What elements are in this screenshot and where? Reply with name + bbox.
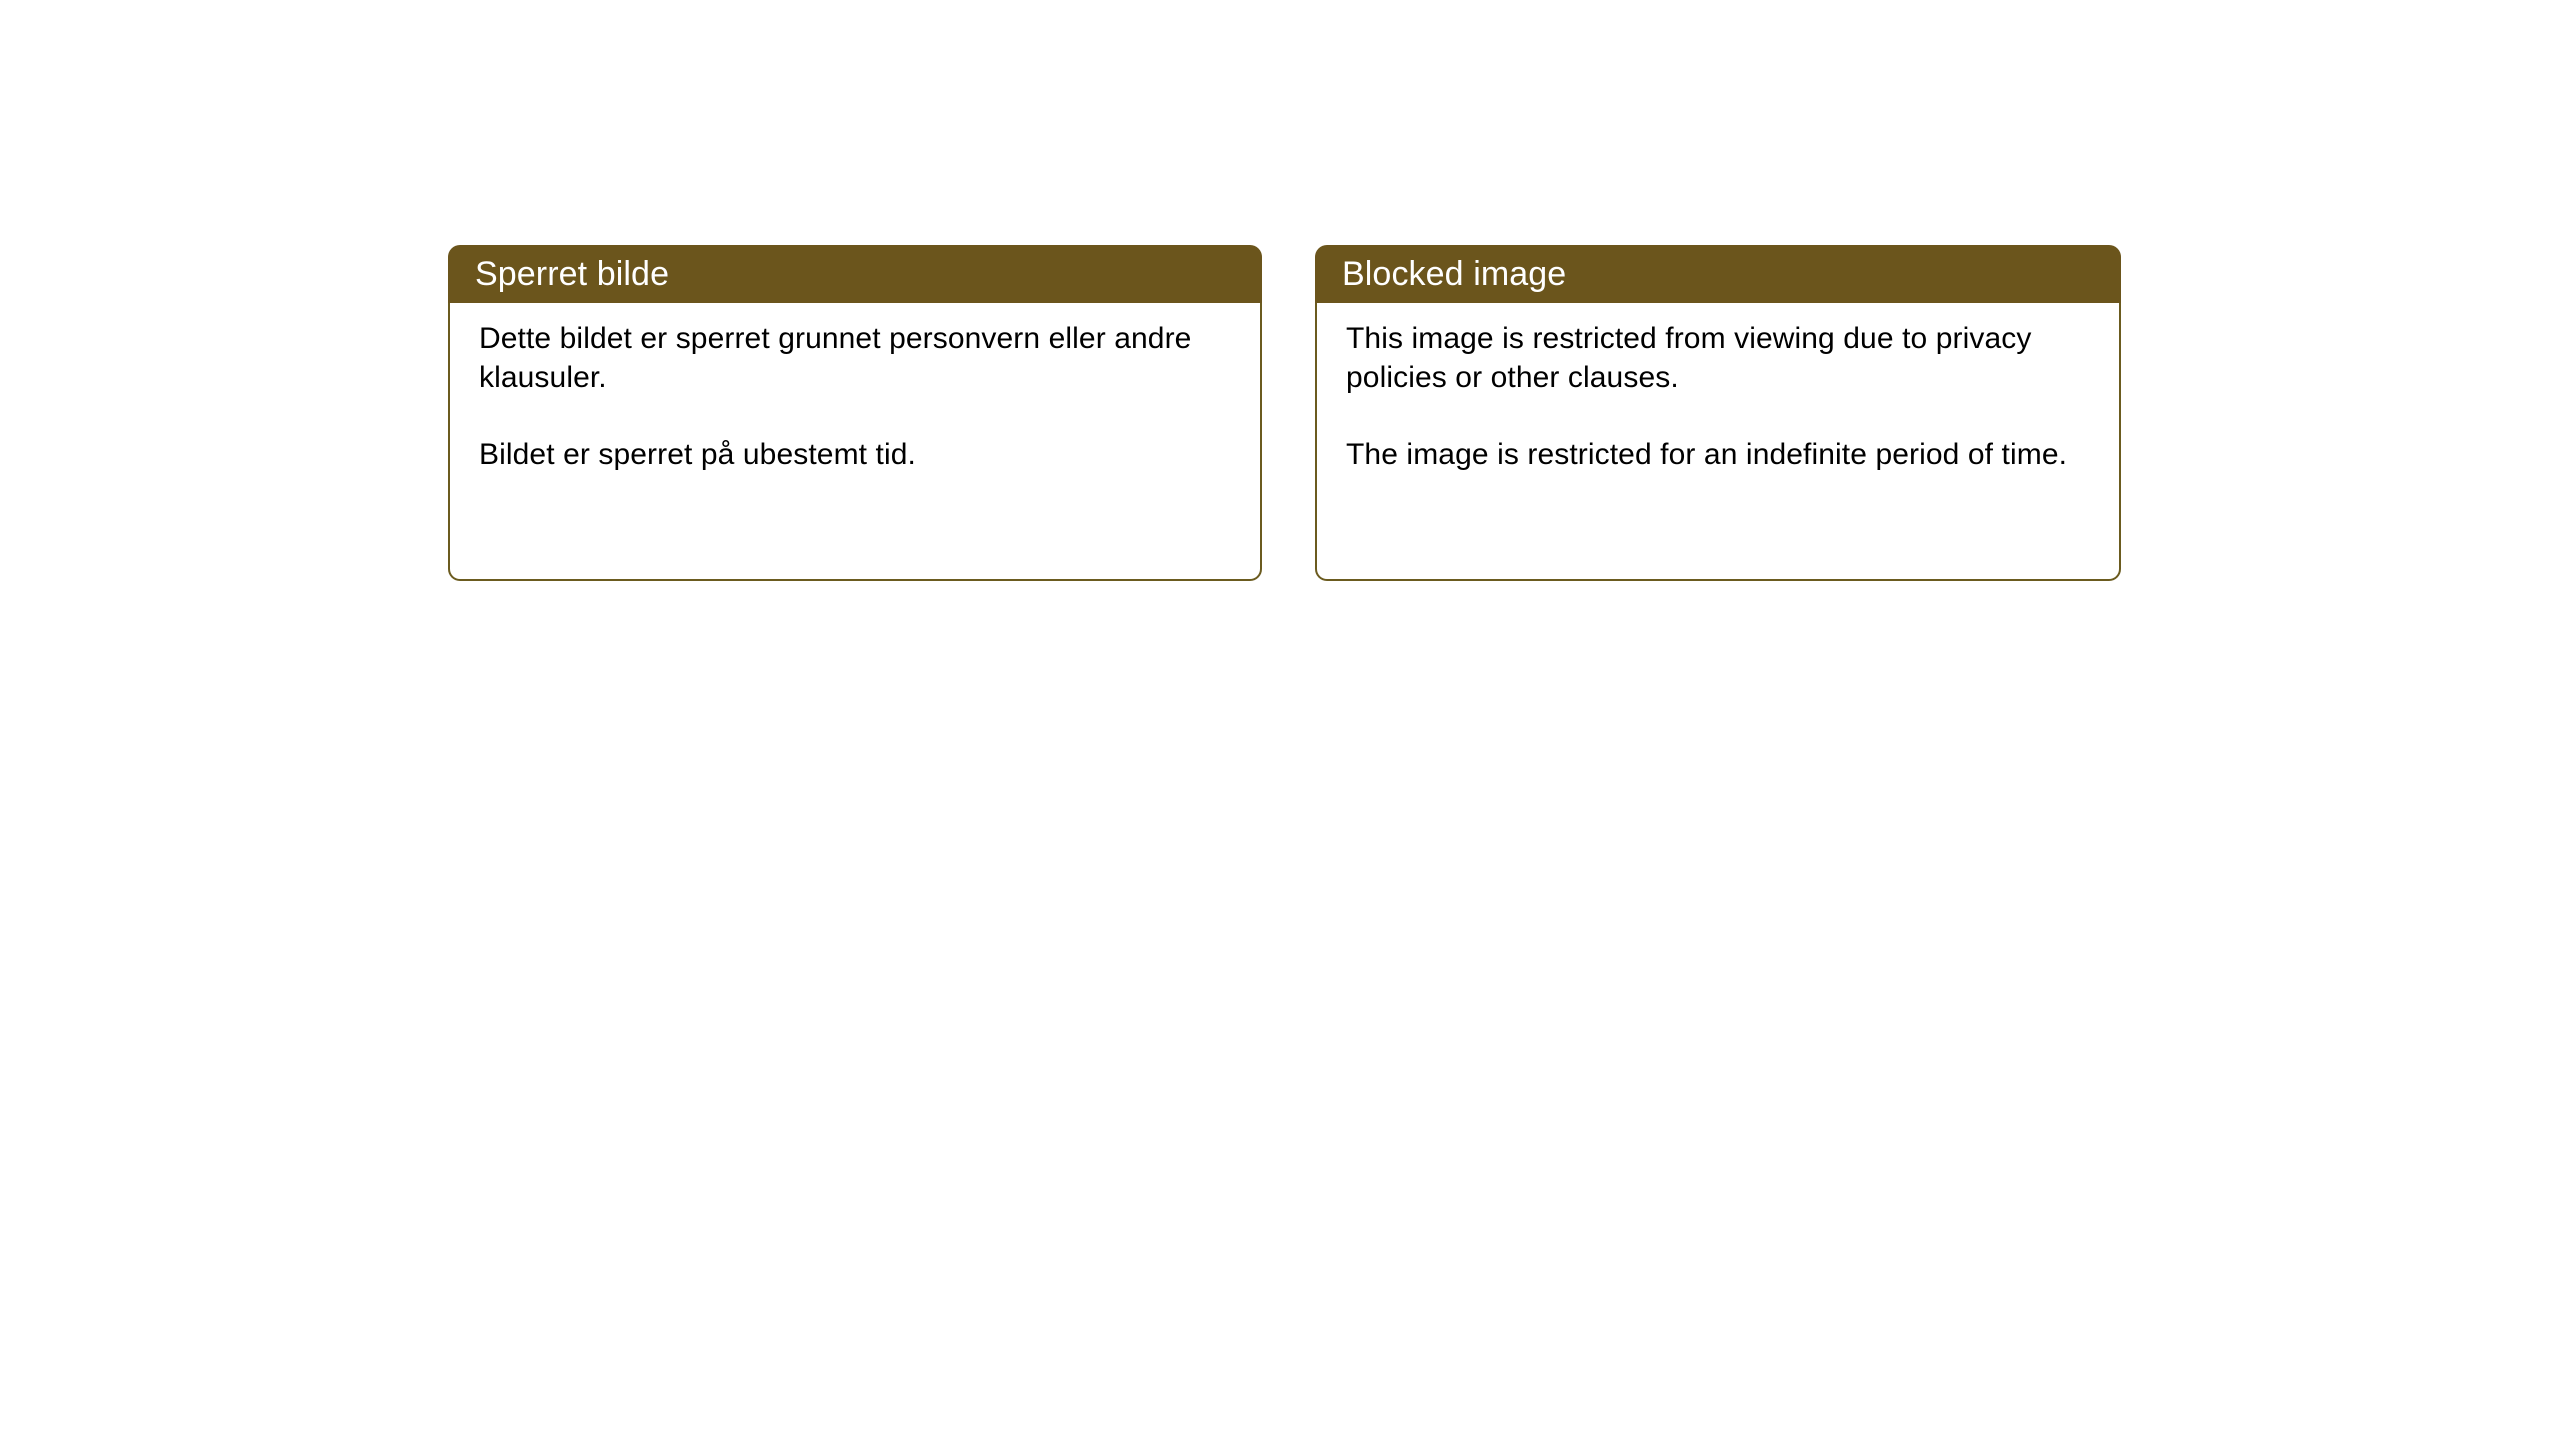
page-canvas: Sperret bilde Dette bildet er sperret gr… bbox=[0, 0, 2560, 1440]
card-title-english: Blocked image bbox=[1342, 255, 1566, 293]
card-paragraph-reason-norwegian: Dette bildet er sperret grunnet personve… bbox=[479, 319, 1238, 397]
blocked-image-notice-card-norwegian: Sperret bilde Dette bildet er sperret gr… bbox=[448, 245, 1262, 581]
card-body-norwegian: Dette bildet er sperret grunnet personve… bbox=[448, 303, 1262, 581]
card-paragraph-duration-english: The image is restricted for an indefinit… bbox=[1346, 435, 2097, 474]
card-header-norwegian: Sperret bilde bbox=[448, 245, 1262, 303]
card-paragraph-reason-english: This image is restricted from viewing du… bbox=[1346, 319, 2097, 397]
card-body-english: This image is restricted from viewing du… bbox=[1315, 303, 2121, 581]
card-title-norwegian: Sperret bilde bbox=[475, 255, 669, 293]
card-paragraph-duration-norwegian: Bildet er sperret på ubestemt tid. bbox=[479, 435, 1238, 474]
card-header-english: Blocked image bbox=[1315, 245, 2121, 303]
blocked-image-notice-card-english: Blocked image This image is restricted f… bbox=[1315, 245, 2121, 581]
